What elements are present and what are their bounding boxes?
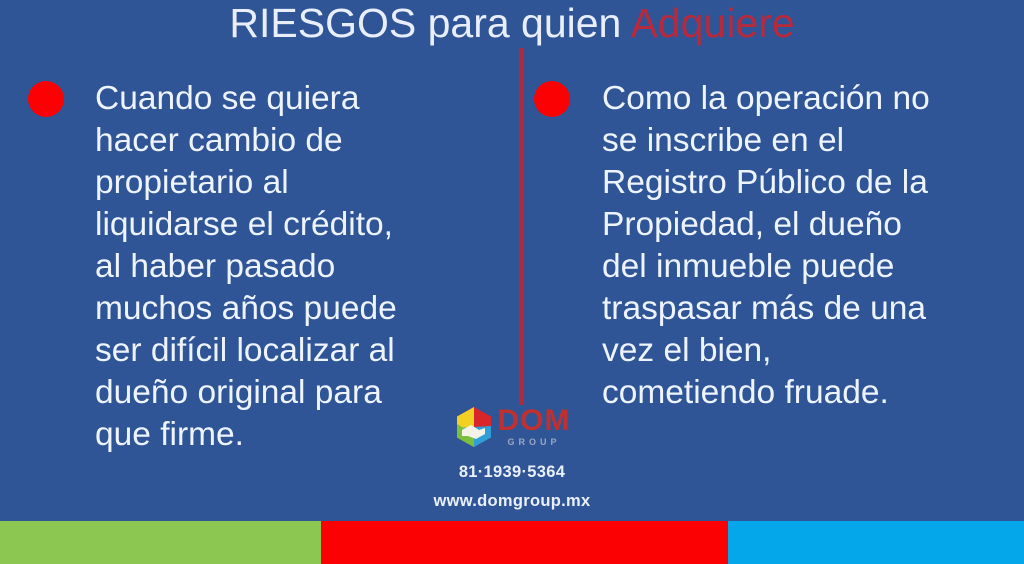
branding-block: DOM GROUP 81·1939·5364 www.domgroup.mx bbox=[0, 404, 1024, 511]
dom-handshake-logo-icon bbox=[454, 406, 494, 448]
column-divider bbox=[519, 48, 524, 405]
logo-tagline: GROUP bbox=[507, 438, 560, 447]
bar-segment-blue bbox=[728, 521, 1024, 564]
risk-text-left: Cuando se quiera hacer cambio de propiet… bbox=[95, 78, 490, 456]
risk-column-right: Como la operación no se inscribe en el R… bbox=[534, 78, 1004, 414]
logo-wordmark: DOM GROUP bbox=[498, 407, 571, 447]
bottom-color-bar bbox=[0, 521, 1024, 564]
bar-segment-red bbox=[321, 521, 728, 564]
page-title-accent: Adquiere bbox=[631, 0, 795, 46]
risk-column-left: Cuando se quiera hacer cambio de propiet… bbox=[28, 78, 490, 456]
contact-phone: 81·1939·5364 bbox=[0, 463, 1024, 482]
bar-segment-green bbox=[0, 521, 321, 564]
risk-text-right: Como la operación no se inscribe en el R… bbox=[602, 78, 1004, 414]
page-title: RIESGOS para quien Adquiere bbox=[0, 0, 1024, 48]
slide-canvas: RIESGOS para quien Adquiere Cuando se qu… bbox=[0, 0, 1024, 564]
bullet-dot-icon bbox=[534, 81, 570, 117]
bullet-dot-icon bbox=[28, 81, 64, 117]
logo: DOM GROUP bbox=[454, 404, 571, 450]
logo-name: DOM bbox=[498, 407, 571, 435]
contact-website[interactable]: www.domgroup.mx bbox=[0, 492, 1024, 511]
page-title-main: RIESGOS para quien bbox=[229, 0, 630, 46]
